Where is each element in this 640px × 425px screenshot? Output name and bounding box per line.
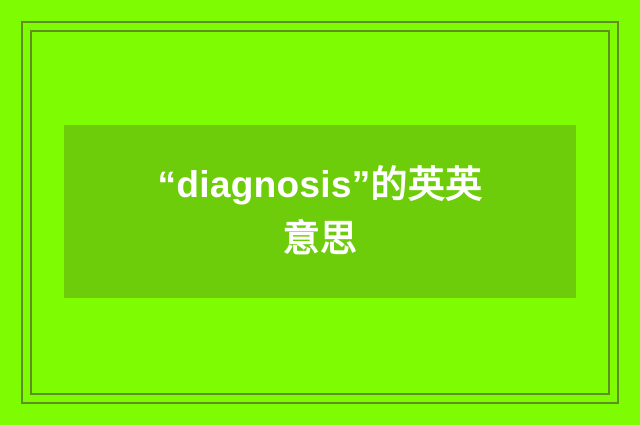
panel-title: “diagnosis”的英英意思 [155, 158, 485, 265]
text-panel: “diagnosis”的英英意思 [64, 125, 576, 298]
banner-canvas: “diagnosis”的英英意思 [0, 0, 640, 425]
